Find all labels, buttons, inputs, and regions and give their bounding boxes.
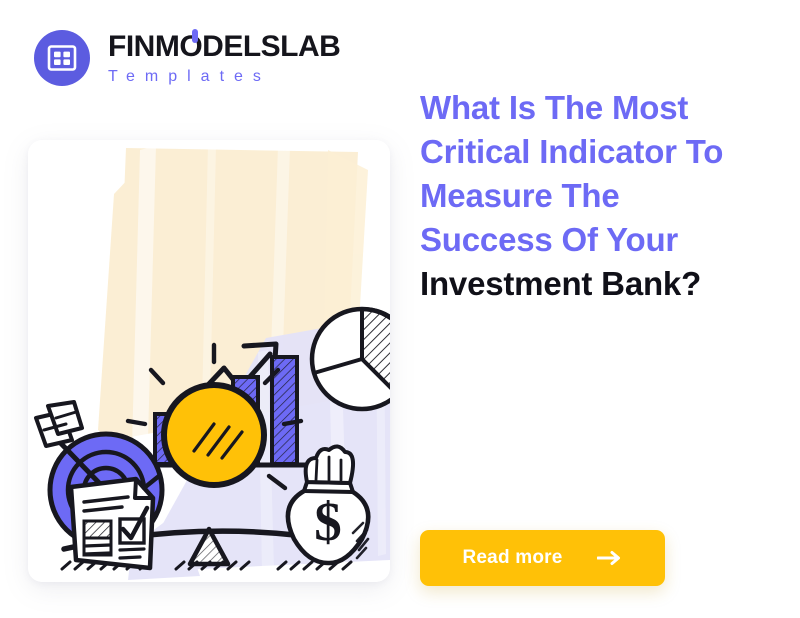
headline-line-1: What Is The Most: [420, 89, 688, 126]
document-checklist: [71, 479, 153, 568]
headline-line-4: Success Of Your: [420, 221, 678, 258]
headline-line-5: Investment Bank?: [420, 265, 701, 302]
arrow-right-icon: [597, 550, 623, 566]
brand-wordmark: FINMODELSLAB Templates: [108, 32, 340, 85]
business-analytics-illustration: $: [28, 140, 390, 582]
page-title: What Is The Most Critical Indicator To M…: [420, 86, 780, 305]
brand-name-text: FINMODELSLAB: [108, 30, 340, 63]
read-more-label: Read more: [462, 547, 562, 569]
brand-logo[interactable]: FINMODELSLAB Templates: [34, 30, 340, 86]
headline-line-2: Critical Indicator To: [420, 133, 723, 170]
brand-name: FINMODELSLAB: [108, 32, 340, 62]
brand-tagline: Templates: [108, 69, 340, 85]
pie-chart: [312, 309, 390, 409]
power-mark-icon: [192, 29, 198, 43]
headline-block: What Is The Most Critical Indicator To M…: [420, 86, 780, 305]
read-more-button[interactable]: Read more: [420, 530, 665, 586]
grid-squares-icon: [34, 30, 90, 86]
illustration-card: $: [28, 140, 390, 582]
svg-text:$: $: [314, 491, 342, 552]
headline-line-3: Measure The: [420, 177, 620, 214]
